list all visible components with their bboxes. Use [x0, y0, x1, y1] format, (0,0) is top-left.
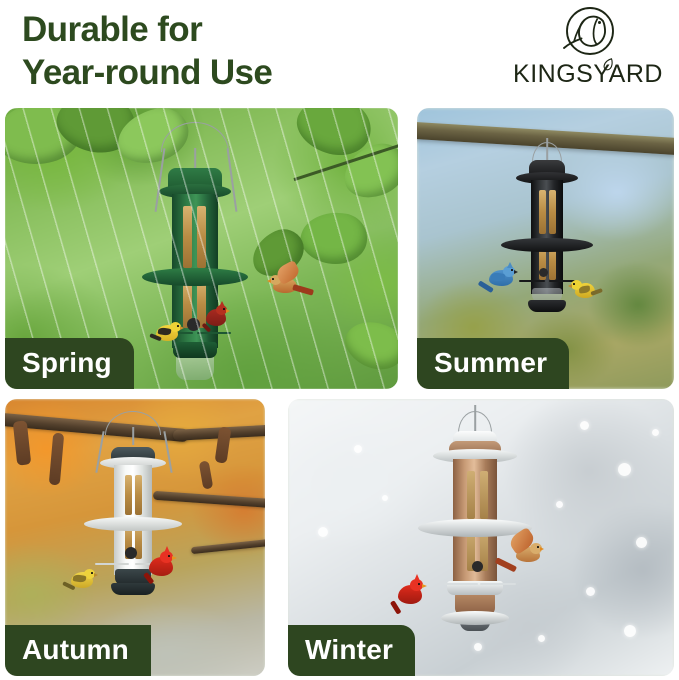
page-title: Durable for Year-round Use: [22, 8, 272, 94]
bird-goldfinch: [569, 278, 603, 308]
bird-cardinal-flying: [263, 264, 315, 306]
bird-goldfinch: [63, 567, 99, 599]
snow-particle: [624, 625, 636, 637]
snow-particle: [474, 643, 482, 651]
leaf-accent-icon: [602, 58, 613, 71]
bird-feeder-black: [489, 138, 605, 338]
bird-goldfinch: [150, 320, 184, 350]
snow-particle: [354, 445, 362, 453]
snow-particle: [580, 421, 589, 430]
brand-wordmark: KINGSYARD: [513, 60, 663, 89]
bird-in-circle-icon: [557, 5, 619, 61]
brand-logo: KINGSYARD: [513, 5, 663, 91]
bird-blue-jay: [479, 264, 521, 302]
snow-particle: [382, 495, 388, 501]
snow-particle: [586, 587, 595, 596]
snow-particle: [636, 537, 647, 548]
snow-particle: [618, 463, 631, 476]
season-panel-autumn[interactable]: Autumn: [5, 399, 265, 676]
season-badge-winter: Winter: [288, 625, 415, 676]
snow-particle: [652, 429, 659, 436]
season-badge-autumn: Autumn: [5, 625, 151, 676]
season-panel-grid: Spring: [0, 104, 679, 680]
season-badge-spring: Spring: [5, 338, 134, 389]
season-panel-summer[interactable]: Summer: [417, 108, 674, 389]
bird-cardinal-flying: [496, 531, 552, 577]
bird-northern-cardinal: [392, 577, 432, 619]
season-panel-spring[interactable]: Spring: [5, 108, 398, 389]
snow-particle: [318, 527, 328, 537]
snow-particle: [538, 635, 545, 642]
header: Durable for Year-round Use KINGSYARD: [0, 0, 679, 104]
snow-particle: [556, 501, 563, 508]
bird-cardinal-perched: [203, 304, 233, 334]
bird-northern-cardinal: [145, 549, 183, 587]
infographic-page: Durable for Year-round Use KINGSYARD: [0, 0, 679, 680]
season-panel-winter[interactable]: Winter: [288, 399, 674, 676]
season-badge-summer: Summer: [417, 338, 569, 389]
